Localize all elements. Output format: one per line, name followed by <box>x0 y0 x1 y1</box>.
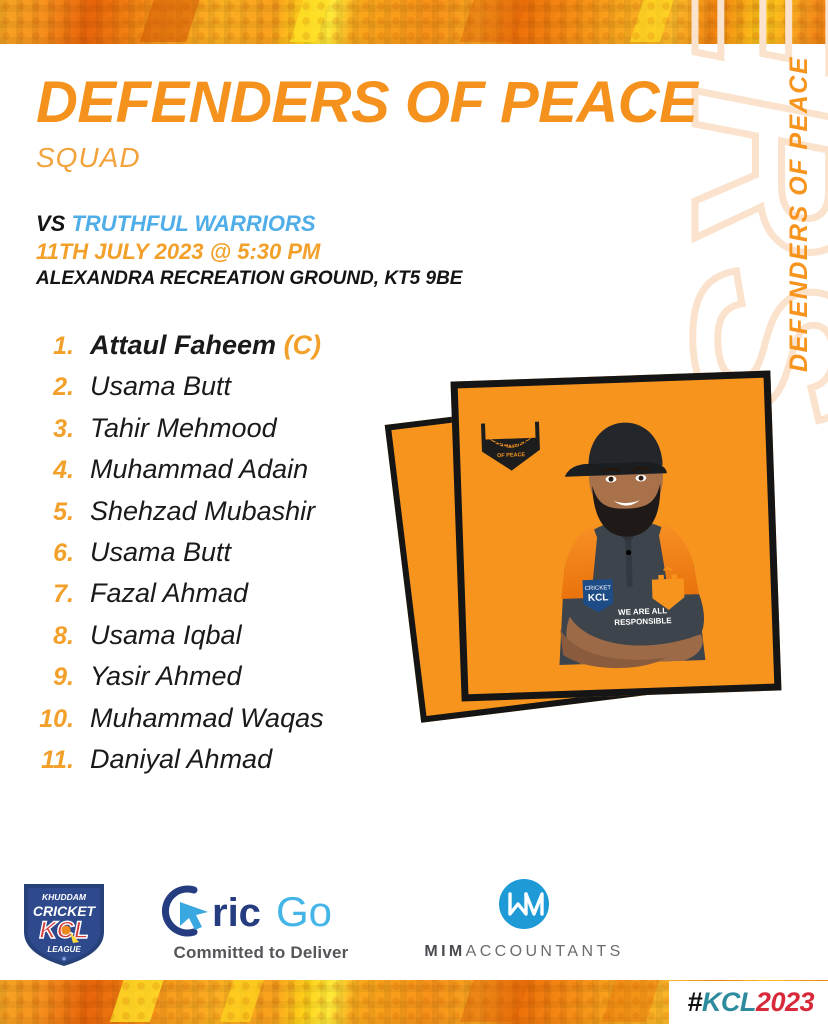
squad-row: 7.Fazal Ahmad <box>28 578 448 619</box>
player-name: Daniyal Ahmad <box>90 744 272 775</box>
squad-row: 1.Attaul Faheem (C) <box>28 330 448 371</box>
player-name: Shehzad Mubashir <box>90 496 315 527</box>
cricgo-name-light: Go <box>276 888 332 935</box>
player-number: 11. <box>28 746 90 775</box>
player-name-text: Daniyal Ahmad <box>90 744 272 774</box>
svg-text:WE ARE ALL: WE ARE ALL <box>618 606 668 617</box>
match-opponent-line: VS TRUTHFUL WARRIORS <box>36 210 462 238</box>
player-name-text: Usama Iqbal <box>90 620 242 650</box>
player-number: 4. <box>28 456 90 485</box>
player-name-text: Muhammad Waqas <box>90 703 324 733</box>
squad-row: 6.Usama Butt <box>28 537 448 578</box>
opponent-name: TRUTHFUL WARRIORS <box>71 211 315 236</box>
cricgo-mark-icon: ric Go <box>150 882 372 940</box>
svg-text:CRICKET: CRICKET <box>585 585 612 592</box>
crest-line-2: OF PEACE <box>497 452 526 459</box>
svg-text:✶: ✶ <box>60 954 68 964</box>
hashtag-badge: #KCL2023 <box>669 981 828 1024</box>
player-name: Tahir Mehmood <box>90 413 277 444</box>
player-number: 10. <box>28 705 90 734</box>
squad-row: 8.Usama Iqbal <box>28 620 448 661</box>
crest-line-1: DEFENDERS <box>487 439 534 450</box>
player-name: Muhammad Waqas <box>90 703 324 734</box>
player-name-text: Muhammad Adain <box>90 454 308 484</box>
player-number: 9. <box>28 663 90 692</box>
photo-card-front: CRICKET KCL WE ARE ALL RESPONSIBLE <box>451 371 782 702</box>
squad-row: 4.Muhammad Adain <box>28 454 448 495</box>
mim-name-bold: MIM <box>424 943 465 960</box>
player-name: Usama Butt <box>90 537 231 568</box>
player-number: 6. <box>28 539 90 568</box>
kcl-shield-icon: KHUDDAM CRICKET KCL LEAGUE ✶ <box>14 872 114 972</box>
player-name: Muhammad Adain <box>90 454 308 485</box>
player-name: Usama Butt <box>90 371 231 402</box>
match-venue: ALEXANDRA RECREATION GROUND, KT5 9BE <box>36 266 462 292</box>
cricgo-tagline: Committed to Deliver <box>150 943 372 963</box>
match-datetime: 11TH JULY 2023 @ 5:30 PM <box>36 238 462 266</box>
page-subtitle: SQUAD <box>36 142 676 174</box>
player-number: 2. <box>28 373 90 402</box>
player-number: 7. <box>28 580 90 609</box>
team-crest-icon: DEFENDERS OF PEACE <box>472 395 549 476</box>
cricgo-name-dark: ric <box>212 891 261 935</box>
player-name-text: Yasir Ahmed <box>90 661 242 691</box>
player-name-text: Shehzad Mubashir <box>90 496 315 526</box>
kcl-top-text: KHUDDAM <box>42 892 87 902</box>
sponsor-mim-logo: MIMACCOUNTANTS <box>412 878 636 964</box>
kcl-bottom-text: LEAGUE <box>47 945 81 954</box>
player-photo-area: CRICKET KCL WE ARE ALL RESPONSIBLE <box>398 372 798 732</box>
vertical-team-label: DEFENDERS OF PEACE <box>785 56 814 372</box>
mim-name-light: ACCOUNTANTS <box>466 943 624 960</box>
hashtag-symbol: # <box>687 987 702 1017</box>
player-name: Usama Iqbal <box>90 620 242 651</box>
player-name-text: Tahir Mehmood <box>90 413 277 443</box>
squad-row: 2.Usama Butt <box>28 371 448 412</box>
sponsor-cricgo-logo: ric Go Committed to Deliver <box>150 882 372 962</box>
banner-dot-texture <box>0 0 828 44</box>
sponsor-kcl-logo: KHUDDAM CRICKET KCL LEAGUE ✶ <box>14 872 114 972</box>
squad-list: 1.Attaul Faheem (C)2.Usama Butt3.Tahir M… <box>28 330 448 785</box>
player-name: Yasir Ahmed <box>90 661 242 692</box>
squad-row: 5.Shehzad Mubashir <box>28 496 448 537</box>
captain-marker: (C) <box>284 330 321 360</box>
sponsor-row: KHUDDAM CRICKET KCL LEAGUE ✶ ric Go C <box>0 868 828 972</box>
squad-poster: DEFENDERS DEFENDERS OF PEACE DEFENDERS O… <box>0 0 828 1024</box>
vs-label: VS <box>36 211 65 236</box>
squad-row: 11.Daniyal Ahmad <box>28 744 448 785</box>
hashtag-kcl: KCL <box>702 987 756 1017</box>
player-number: 5. <box>28 498 90 527</box>
page-title: DEFENDERS OF PEACE <box>36 74 676 132</box>
hashtag-year: 2023 <box>756 987 814 1017</box>
player-number: 1. <box>28 332 90 361</box>
squad-row: 9.Yasir Ahmed <box>28 661 448 702</box>
match-info-block: VS TRUTHFUL WARRIORS 11TH JULY 2023 @ 5:… <box>36 210 462 292</box>
player-name: Attaul Faheem (C) <box>90 330 321 361</box>
player-name-text: Usama Butt <box>90 371 231 401</box>
top-banner-stripe <box>0 0 828 44</box>
player-name-text: Fazal Ahmad <box>90 578 248 608</box>
player-name-text: Usama Butt <box>90 537 231 567</box>
mim-monogram-icon <box>412 878 636 934</box>
player-number: 3. <box>28 415 90 444</box>
player-number: 8. <box>28 622 90 651</box>
svg-text:KCL: KCL <box>588 592 609 604</box>
player-name-text: Attaul Faheem <box>90 330 276 360</box>
mim-wordmark: MIMACCOUNTANTS <box>412 943 636 961</box>
player-name: Fazal Ahmad <box>90 578 248 609</box>
squad-row: 10.Muhammad Waqas <box>28 703 448 744</box>
header-block: DEFENDERS OF PEACE SQUAD <box>36 74 676 174</box>
